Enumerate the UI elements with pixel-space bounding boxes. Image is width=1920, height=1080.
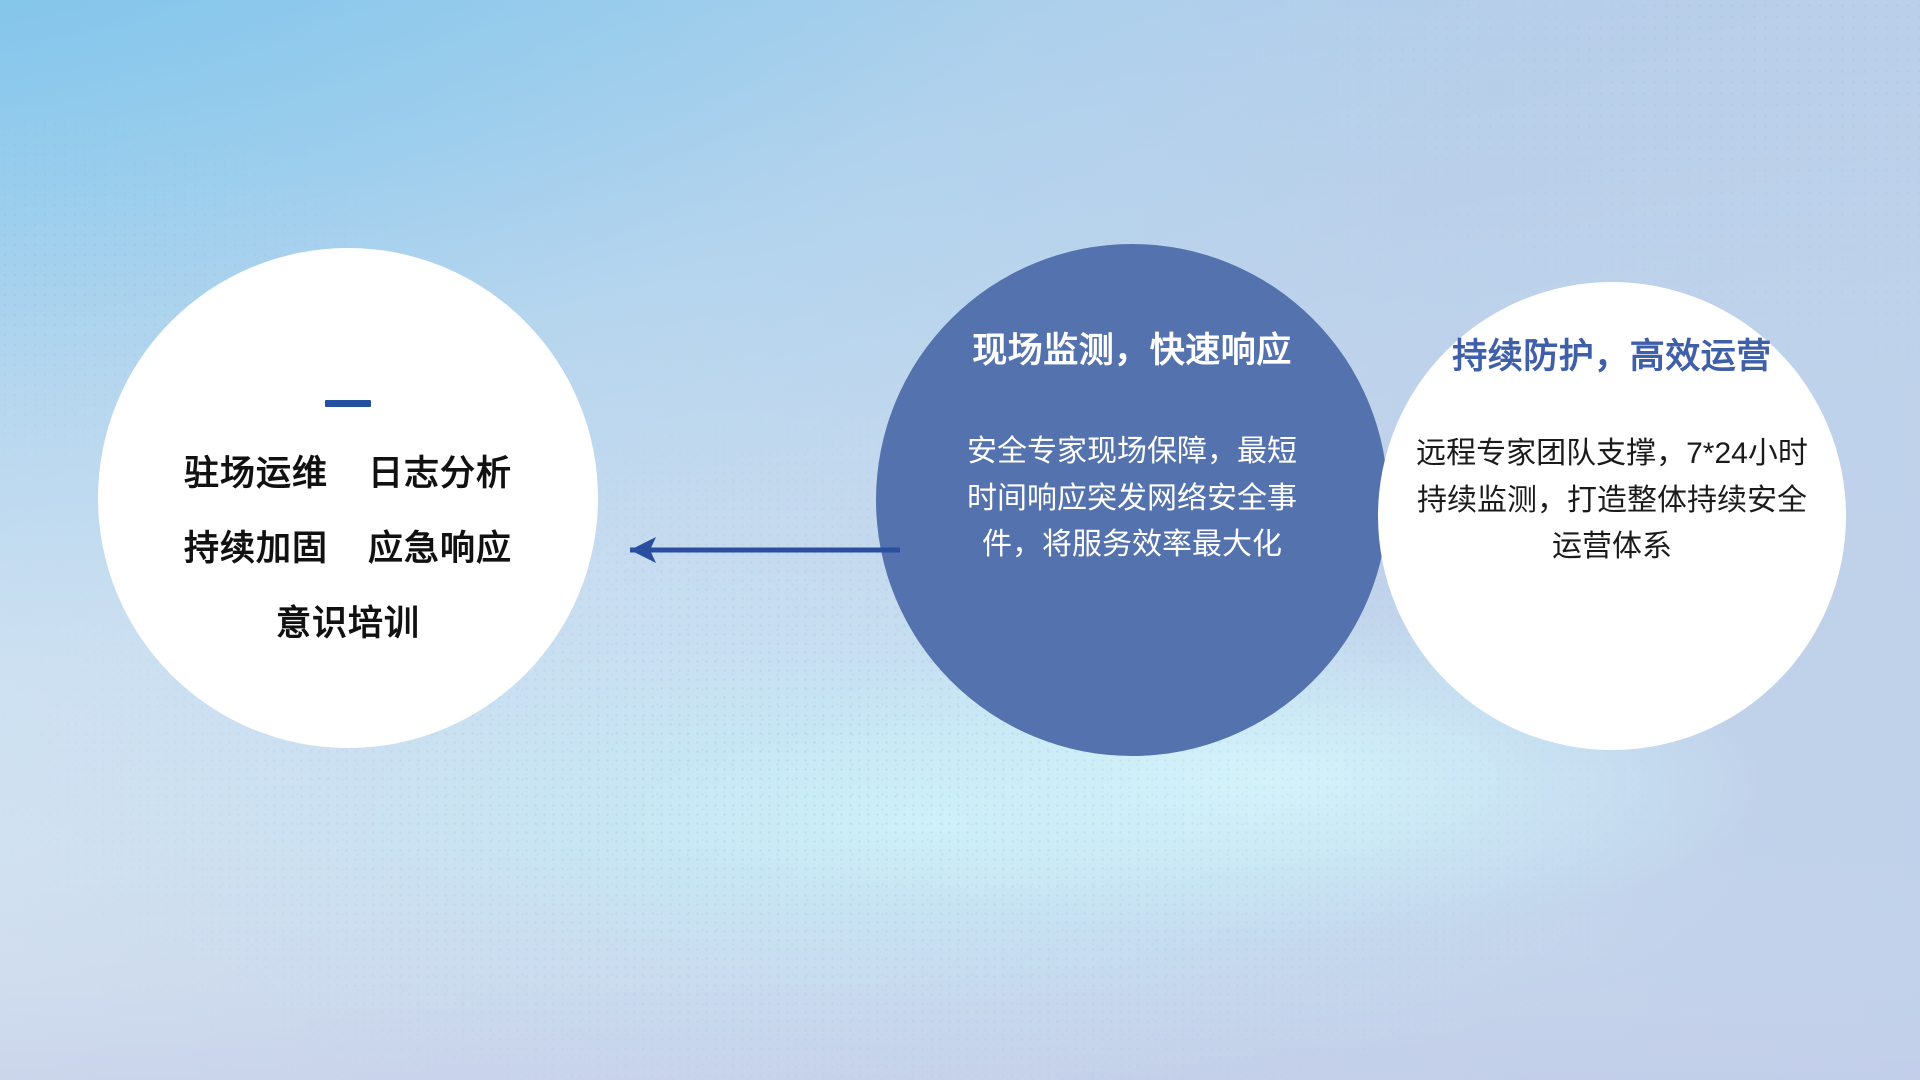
continuous-protection-circle: 持续防护，高效运营 远程专家团队支撑，7*24小时持续监测，打造整体持续安全运营… [1378,282,1846,750]
keyword-item: 意识培训 [276,595,420,646]
keyword-item: 驻场运维 [184,445,328,496]
keyword-item: 持续加固 [184,520,328,571]
continuous-protection-body: 远程专家团队支撑，7*24小时持续监测，打造整体持续安全运营体系 [1410,431,1814,571]
onsite-monitoring-body: 安全专家现场保障，最短时间响应突发网络安全事件，将服务效率最大化 [966,429,1298,569]
capability-keywords-circle: 驻场运维 日志分析 持续加固 应急响应 意识培训 [98,248,598,748]
slide-canvas: 驻场运维 日志分析 持续加固 应急响应 意识培训 现场监测，快速响应 安全专家现… [0,0,1920,1080]
keyword-row: 意识培训 [276,595,420,646]
keyword-list: 驻场运维 日志分析 持续加固 应急响应 意识培训 [184,445,512,646]
arrow-left-icon [600,520,900,580]
horizontal-dash-icon [325,400,371,407]
keyword-row: 驻场运维 日志分析 [184,445,512,496]
onsite-monitoring-title: 现场监测，快速响应 [972,322,1292,373]
continuous-protection-title: 持续防护，高效运营 [1452,328,1772,379]
keyword-row: 持续加固 应急响应 [184,520,512,571]
onsite-monitoring-circle: 现场监测，快速响应 安全专家现场保障，最短时间响应突发网络安全事件，将服务效率最… [876,244,1388,756]
keyword-item: 应急响应 [368,520,512,571]
keyword-item: 日志分析 [368,445,512,496]
